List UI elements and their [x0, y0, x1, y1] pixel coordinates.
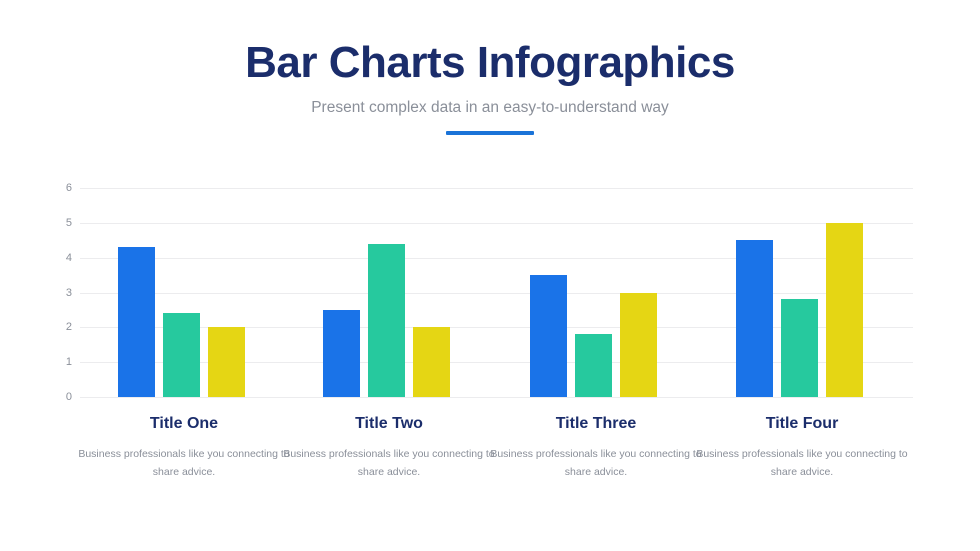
bar-1-series-3[interactable]	[208, 327, 245, 397]
page-subtitle: Present complex data in an easy-to-under…	[0, 99, 980, 117]
slide-header: Bar Charts Infographics Present complex …	[0, 40, 980, 135]
bar-group-3	[530, 188, 657, 397]
caption-column-3: Title ThreeBusiness professionals like y…	[481, 415, 711, 482]
page-title: Bar Charts Infographics	[0, 40, 980, 86]
bar-4-series-2[interactable]	[781, 299, 818, 397]
bar-2-series-3[interactable]	[413, 327, 450, 397]
chart-plot-area	[0, 178, 980, 413]
caption-row: Title OneBusiness professionals like you…	[0, 415, 980, 505]
bar-3-series-1[interactable]	[530, 275, 567, 397]
bar-chart: 0123456	[0, 178, 980, 413]
caption-text-3: Business professionals like you connecti…	[481, 445, 711, 482]
bar-1-series-1[interactable]	[118, 247, 155, 397]
bar-4-series-1[interactable]	[736, 240, 773, 397]
bar-group-2	[323, 188, 450, 397]
bar-1-series-2[interactable]	[163, 313, 200, 397]
caption-text-4: Business professionals like you connecti…	[687, 445, 917, 482]
accent-underline	[446, 131, 534, 135]
caption-text-1: Business professionals like you connecti…	[69, 445, 299, 482]
bar-3-series-2[interactable]	[575, 334, 612, 397]
caption-column-4: Title FourBusiness professionals like yo…	[687, 415, 917, 482]
caption-column-2: Title TwoBusiness professionals like you…	[274, 415, 504, 482]
caption-title-1: Title One	[69, 415, 299, 433]
bar-4-series-3[interactable]	[826, 223, 863, 397]
bar-2-series-1[interactable]	[323, 310, 360, 397]
bar-group-1	[118, 188, 245, 397]
caption-text-2: Business professionals like you connecti…	[274, 445, 504, 482]
caption-title-2: Title Two	[274, 415, 504, 433]
slide-canvas: Bar Charts Infographics Present complex …	[0, 0, 980, 551]
bar-3-series-3[interactable]	[620, 293, 657, 398]
caption-title-3: Title Three	[481, 415, 711, 433]
bar-group-4	[736, 188, 863, 397]
bar-2-series-2[interactable]	[368, 244, 405, 397]
caption-title-4: Title Four	[687, 415, 917, 433]
caption-column-1: Title OneBusiness professionals like you…	[69, 415, 299, 482]
